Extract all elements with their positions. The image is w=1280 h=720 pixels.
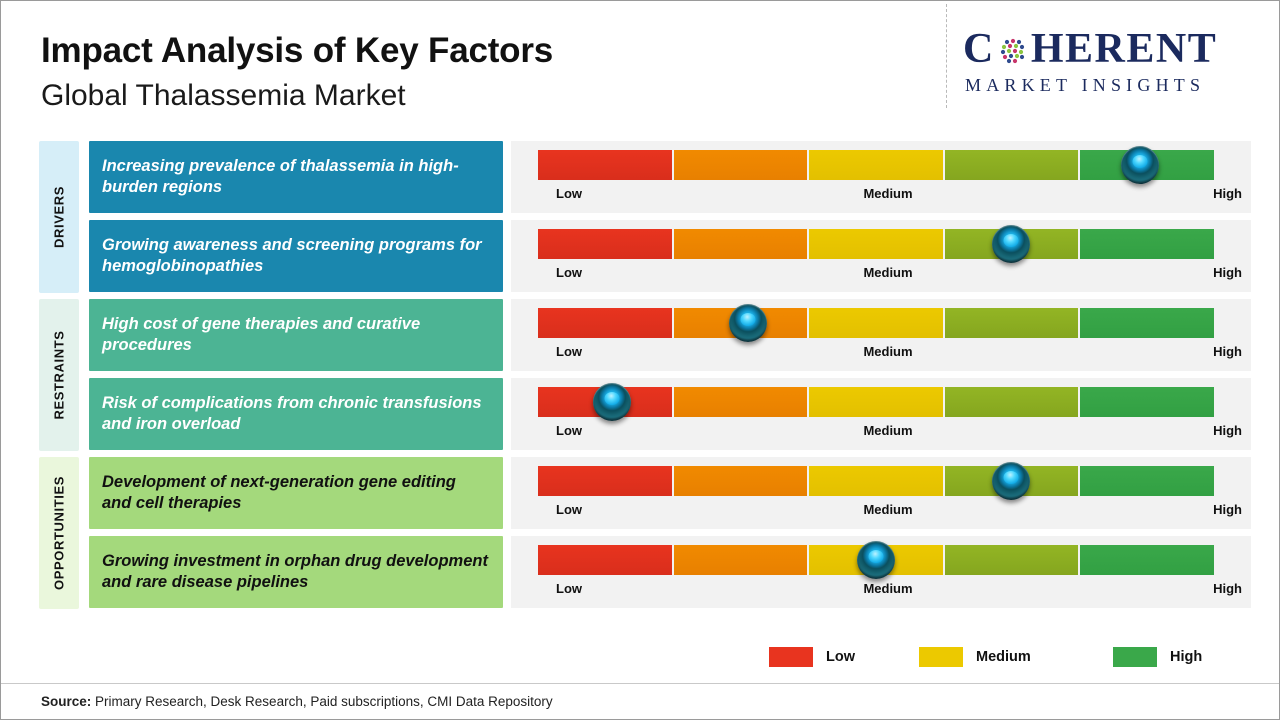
impact-marker[interactable] <box>992 462 1030 500</box>
category-strip-restraints: RESTRAINTS <box>39 299 79 451</box>
impact-marker[interactable] <box>1121 146 1159 184</box>
header: Impact Analysis of Key Factors Global Th… <box>1 1 1280 131</box>
scale-label-high: High <box>1213 579 1242 599</box>
legend: Low Medium High <box>761 645 1221 671</box>
logo-wordmark: C <box>963 27 1263 71</box>
legend-label-high: High <box>1170 649 1202 665</box>
gauge-segment-low-medium <box>674 466 808 496</box>
factor-text: Growing investment in orphan drug develo… <box>102 551 489 593</box>
gauge-bar <box>538 150 1214 180</box>
scale-label-high: High <box>1213 500 1242 520</box>
gauge-segment-low <box>538 545 672 575</box>
gauge-row: Low Medium High <box>511 457 1251 529</box>
factor-box: Development of next-generation gene edit… <box>89 457 503 529</box>
logo-tagline: MARKET INSIGHTS <box>963 74 1263 96</box>
gauge-segment-low <box>538 308 672 338</box>
legend-swatch-high <box>1113 647 1157 667</box>
gauge-segment-medium <box>809 308 943 338</box>
logo-letters-herent: HERENT <box>1031 27 1217 71</box>
gauge-scale-labels: Low Medium High <box>538 579 1238 601</box>
factor-text: Risk of complications from chronic trans… <box>102 393 489 435</box>
scale-label-low: Low <box>556 500 582 520</box>
scale-label-medium: Medium <box>863 184 912 204</box>
factor-text: High cost of gene therapies and curative… <box>102 314 489 356</box>
source-text: Primary Research, Desk Research, Paid su… <box>91 694 552 709</box>
gauge-segment-medium-high <box>945 150 1079 180</box>
gauge-segment-low-medium <box>674 150 808 180</box>
scale-label-high: High <box>1213 421 1242 441</box>
gauge-scale-labels: Low Medium High <box>538 263 1238 285</box>
scale-label-high: High <box>1213 342 1242 362</box>
category-label-drivers: DRIVERS <box>52 186 67 248</box>
factor-box: Increasing prevalence of thalassemia in … <box>89 141 503 213</box>
gauge-segment-high <box>1080 545 1214 575</box>
gauge-bar <box>538 387 1214 417</box>
category-strip-drivers: DRIVERS <box>39 141 79 293</box>
gauge-segment-high <box>1080 466 1214 496</box>
footer-divider <box>1 683 1280 684</box>
gauge-segment-medium <box>809 466 943 496</box>
gauge-segment-medium-high <box>945 387 1079 417</box>
factor-text: Increasing prevalence of thalassemia in … <box>102 156 489 198</box>
category-strip-opportunities: OPPORTUNITIES <box>39 457 79 609</box>
scale-label-medium: Medium <box>863 342 912 362</box>
legend-swatch-medium <box>919 647 963 667</box>
gauge-bar <box>538 229 1214 259</box>
legend-item-high: High <box>1113 645 1202 669</box>
gauge-scale-labels: Low Medium High <box>538 421 1238 443</box>
gauge-row: Low Medium High <box>511 141 1251 213</box>
gauge-row: Low Medium High <box>511 299 1251 371</box>
gauge-scale-labels: Low Medium High <box>538 184 1238 206</box>
page-subtitle: Global Thalassemia Market <box>41 75 553 117</box>
factor-text: Development of next-generation gene edit… <box>102 472 489 514</box>
gauge-segment-high <box>1080 229 1214 259</box>
coherent-market-insights-logo: C <box>963 27 1263 99</box>
page-title: Impact Analysis of Key Factors <box>41 29 553 73</box>
category-label-restraints: RESTRAINTS <box>52 330 67 419</box>
factor-box: Growing awareness and screening programs… <box>89 220 503 292</box>
factor-box: High cost of gene therapies and curative… <box>89 299 503 371</box>
gauge-segment-high <box>1080 387 1214 417</box>
scale-label-medium: Medium <box>863 421 912 441</box>
factor-box: Risk of complications from chronic trans… <box>89 378 503 450</box>
factor-box: Growing investment in orphan drug develo… <box>89 536 503 608</box>
impact-marker[interactable] <box>729 304 767 342</box>
gauge-row: Low Medium High <box>511 536 1251 608</box>
legend-label-low: Low <box>826 649 855 665</box>
gauge-segment-low <box>538 466 672 496</box>
impact-marker[interactable] <box>992 225 1030 263</box>
globe-icon <box>996 34 1030 68</box>
gauge-segment-medium-high <box>945 545 1079 575</box>
source-label: Source: <box>41 694 91 709</box>
category-label-opportunities: OPPORTUNITIES <box>52 476 67 590</box>
scale-label-medium: Medium <box>863 500 912 520</box>
gauge-scale-labels: Low Medium High <box>538 342 1238 364</box>
impact-matrix: DRIVERS RESTRAINTS OPPORTUNITIES Increas… <box>1 139 1280 614</box>
legend-swatch-low <box>769 647 813 667</box>
gauge-segment-low <box>538 229 672 259</box>
scale-label-low: Low <box>556 184 582 204</box>
scale-label-low: Low <box>556 579 582 599</box>
scale-label-high: High <box>1213 263 1242 283</box>
gauge-segment-medium <box>809 387 943 417</box>
gauge-segment-medium <box>809 229 943 259</box>
scale-label-medium: Medium <box>863 263 912 283</box>
scale-label-medium: Medium <box>863 579 912 599</box>
gauge-row: Low Medium High <box>511 378 1251 450</box>
gauge-segment-medium <box>809 150 943 180</box>
gauge-segment-low-medium <box>674 229 808 259</box>
gauge-segment-medium-high <box>945 308 1079 338</box>
scale-label-low: Low <box>556 342 582 362</box>
scale-label-low: Low <box>556 421 582 441</box>
gauge-segment-low <box>538 150 672 180</box>
logo-letter-c: C <box>963 27 995 71</box>
gauge-scale-labels: Low Medium High <box>538 500 1238 522</box>
legend-item-low: Low <box>769 645 855 669</box>
factor-text: Growing awareness and screening programs… <box>102 235 489 277</box>
gauge-row: Low Medium High <box>511 220 1251 292</box>
impact-marker[interactable] <box>857 541 895 579</box>
gauge-segment-low-medium <box>674 545 808 575</box>
legend-label-medium: Medium <box>976 649 1031 665</box>
logo-divider <box>946 4 947 108</box>
slide-canvas: Impact Analysis of Key Factors Global Th… <box>0 0 1280 720</box>
title-block: Impact Analysis of Key Factors Global Th… <box>41 29 553 117</box>
impact-marker[interactable] <box>593 383 631 421</box>
gauge-bar <box>538 308 1214 338</box>
gauge-bar <box>538 466 1214 496</box>
legend-item-medium: Medium <box>919 645 1031 669</box>
source-note: Source: Primary Research, Desk Research,… <box>41 693 553 711</box>
scale-label-high: High <box>1213 184 1242 204</box>
gauge-segment-high <box>1080 308 1214 338</box>
scale-label-low: Low <box>556 263 582 283</box>
gauge-segment-low-medium <box>674 387 808 417</box>
